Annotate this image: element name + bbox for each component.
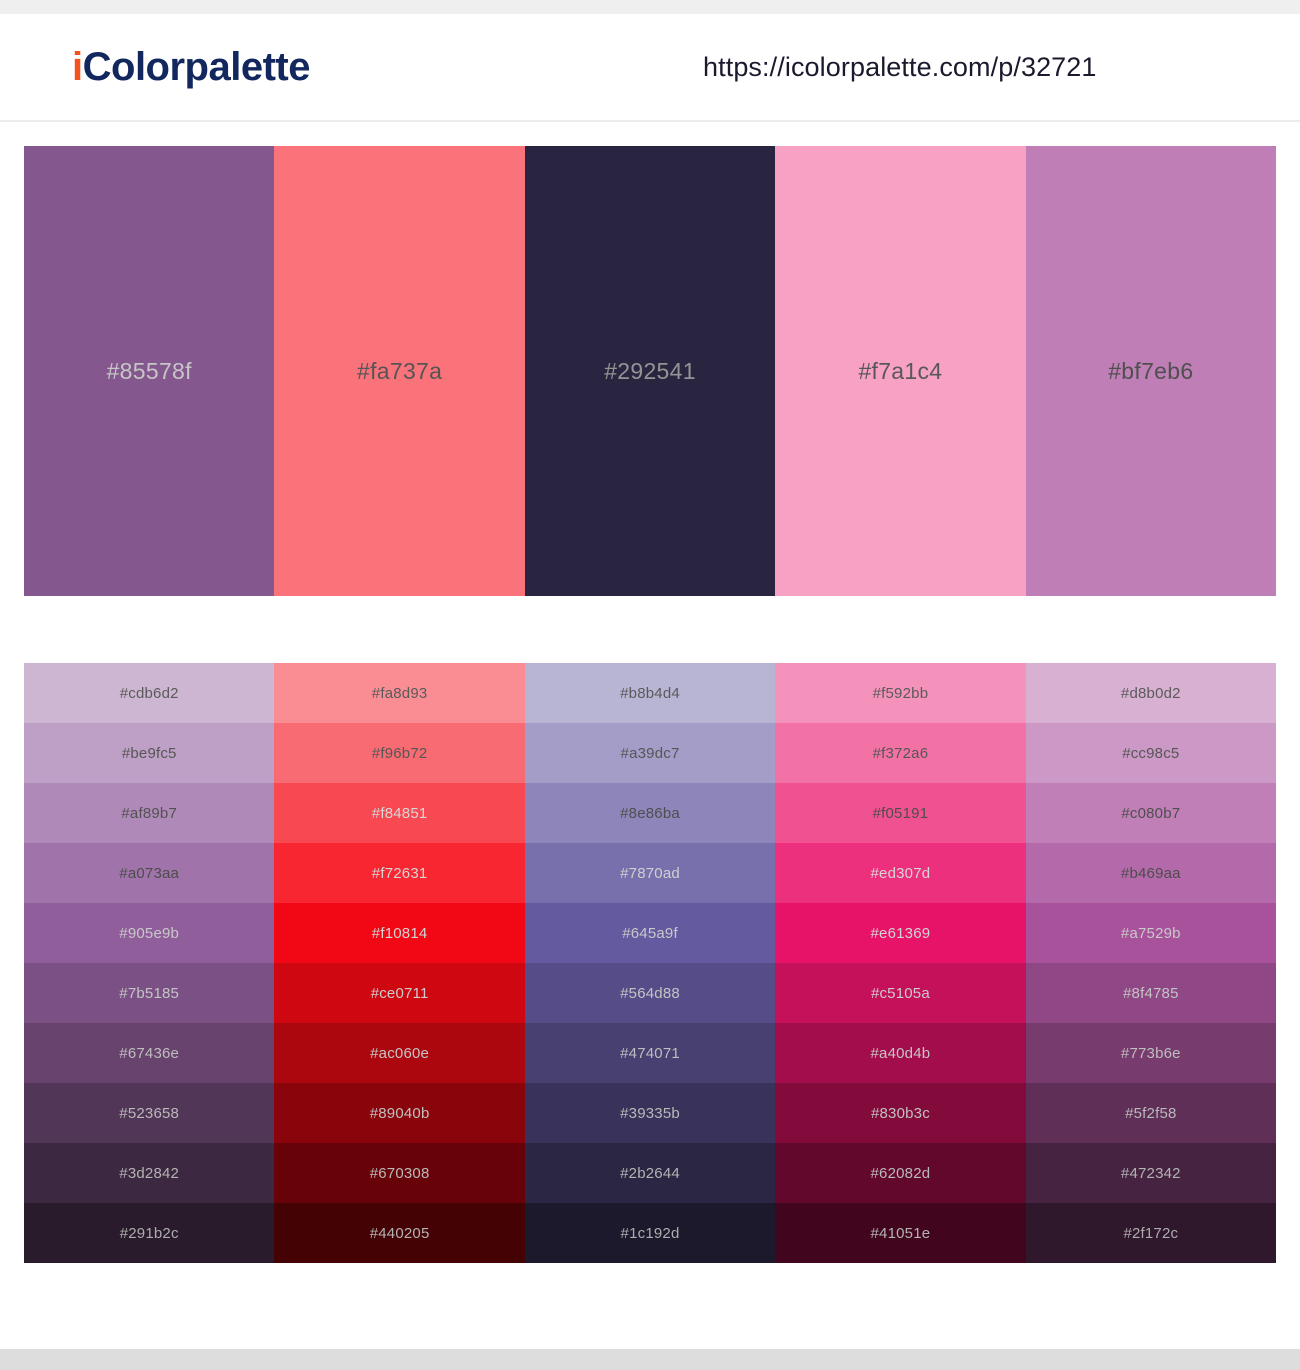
shade-cell[interactable]: #2f172c [1026,1203,1276,1263]
table-row: #a073aa#f72631#7870ad#ed307d#b469aa [24,843,1276,903]
table-row: #523658#89040b#39335b#830b3c#5f2f58 [24,1083,1276,1143]
table-row: #905e9b#f10814#645a9f#e61369#a7529b [24,903,1276,963]
shade-cell[interactable]: #7870ad [525,843,775,903]
palette-swatch[interactable]: #fa737a [274,146,524,596]
shade-cell[interactable]: #b469aa [1026,843,1276,903]
shade-cell-hex-label: #f96b72 [372,745,428,762]
shade-cell[interactable]: #be9fc5 [24,723,274,783]
shade-cell[interactable]: #62082d [775,1143,1025,1203]
shade-cell[interactable]: #e61369 [775,903,1025,963]
shade-cell[interactable]: #ac060e [274,1023,524,1083]
shade-cell-hex-label: #f05191 [873,805,929,822]
shade-cell[interactable]: #3d2842 [24,1143,274,1203]
shade-cell[interactable]: #a40d4b [775,1023,1025,1083]
shade-cell-hex-label: #a39dc7 [621,745,680,762]
table-row: #7b5185#ce0711#564d88#c5105a#8f4785 [24,963,1276,1023]
shade-cell-hex-label: #8e86ba [620,805,680,822]
shade-cell-hex-label: #f372a6 [873,745,929,762]
shade-cell[interactable]: #905e9b [24,903,274,963]
shade-cell[interactable]: #f96b72 [274,723,524,783]
table-row: #291b2c#440205#1c192d#41051e#2f172c [24,1203,1276,1263]
shade-cell-hex-label: #cdb6d2 [120,685,179,702]
shade-cell-hex-label: #b469aa [1121,865,1181,882]
shade-cell-hex-label: #b8b4d4 [620,685,680,702]
shade-cell[interactable]: #291b2c [24,1203,274,1263]
shade-cell[interactable]: #f372a6 [775,723,1025,783]
shade-cell[interactable]: #ed307d [775,843,1025,903]
shade-cell[interactable]: #c080b7 [1026,783,1276,843]
shade-cell[interactable]: #7b5185 [24,963,274,1023]
shade-cell-hex-label: #ac060e [370,1045,429,1062]
table-row: #be9fc5#f96b72#a39dc7#f372a6#cc98c5 [24,723,1276,783]
site-logo[interactable]: iColorpalette [72,47,310,87]
shade-cell[interactable]: #d8b0d2 [1026,663,1276,723]
shade-cell[interactable]: #a7529b [1026,903,1276,963]
shade-cell[interactable]: #1c192d [525,1203,775,1263]
shade-cell[interactable]: #fa8d93 [274,663,524,723]
shade-cell-hex-label: #5f2f58 [1125,1105,1176,1122]
shade-cell-hex-label: #773b6e [1121,1045,1181,1062]
shade-cell[interactable]: #5f2f58 [1026,1083,1276,1143]
shade-cell[interactable]: #c5105a [775,963,1025,1023]
shade-cell[interactable]: #474071 [525,1023,775,1083]
shade-cell-hex-label: #7b5185 [119,985,179,1002]
shade-cell-hex-label: #830b3c [871,1105,930,1122]
site-header: iColorpalette https://icolorpalette.com/… [0,14,1300,122]
shade-cell-hex-label: #ed307d [871,865,931,882]
logo-wordmark: Colorpalette [83,45,310,89]
shade-cell-hex-label: #645a9f [622,925,678,942]
shade-cell-hex-label: #3d2842 [119,1165,179,1182]
shade-cell[interactable]: #645a9f [525,903,775,963]
palette-swatch-hex-label: #85578f [107,358,192,385]
palette-swatch[interactable]: #292541 [525,146,775,596]
shade-cell-hex-label: #905e9b [119,925,179,942]
palette-swatch[interactable]: #f7a1c4 [775,146,1025,596]
shade-cell-hex-label: #c5105a [871,985,930,1002]
palette-swatch-hex-label: #f7a1c4 [858,358,942,385]
shade-cell-hex-label: #ce0711 [371,985,429,1002]
shade-cell[interactable]: #f10814 [274,903,524,963]
shade-cell[interactable]: #773b6e [1026,1023,1276,1083]
shade-cell-hex-label: #472342 [1121,1165,1181,1182]
shade-cell[interactable]: #f592bb [775,663,1025,723]
palette-swatch-hex-label: #bf7eb6 [1108,358,1193,385]
shade-cell[interactable]: #cdb6d2 [24,663,274,723]
shade-cell-hex-label: #2f172c [1123,1225,1178,1242]
shade-cell-hex-label: #a7529b [1121,925,1181,942]
shade-cell-hex-label: #670308 [370,1165,430,1182]
shade-cell-hex-label: #8f4785 [1123,985,1179,1002]
shade-cell-hex-label: #d8b0d2 [1121,685,1181,702]
shade-cell-hex-label: #523658 [119,1105,179,1122]
table-row: #67436e#ac060e#474071#a40d4b#773b6e [24,1023,1276,1083]
bottom-gray-strip [0,1349,1300,1370]
shade-cell-hex-label: #7870ad [620,865,680,882]
shade-cell-hex-label: #2b2644 [620,1165,680,1182]
shade-cell-hex-label: #291b2c [120,1225,179,1242]
palette-swatch-hex-label: #fa737a [357,358,442,385]
palette-swatch[interactable]: #85578f [24,146,274,596]
shade-cell[interactable]: #670308 [274,1143,524,1203]
table-row: #3d2842#670308#2b2644#62082d#472342 [24,1143,1276,1203]
shade-cell-hex-label: #39335b [620,1105,680,1122]
shade-cell-hex-label: #474071 [620,1045,680,1062]
shade-cell-hex-label: #c080b7 [1121,805,1180,822]
shade-cell[interactable]: #a073aa [24,843,274,903]
shade-variation-table: #cdb6d2#fa8d93#b8b4d4#f592bb#d8b0d2#be9f… [24,663,1276,1263]
shade-cell-hex-label: #a073aa [119,865,179,882]
shade-cell[interactable]: #8f4785 [1026,963,1276,1023]
page-root: iColorpalette https://icolorpalette.com/… [0,0,1300,1370]
shade-cell-hex-label: #af89b7 [121,805,177,822]
shade-cell[interactable]: #89040b [274,1083,524,1143]
shade-cell[interactable]: #8e86ba [525,783,775,843]
shade-cell[interactable]: #f84851 [274,783,524,843]
shade-cell-hex-label: #440205 [370,1225,430,1242]
shade-cell[interactable]: #a39dc7 [525,723,775,783]
shade-cell-hex-label: #67436e [119,1045,179,1062]
shade-cell[interactable]: #b8b4d4 [525,663,775,723]
shade-cell[interactable]: #67436e [24,1023,274,1083]
shade-cell[interactable]: #cc98c5 [1026,723,1276,783]
shade-cell[interactable]: #41051e [775,1203,1025,1263]
table-row: #af89b7#f84851#8e86ba#f05191#c080b7 [24,783,1276,843]
shade-cell-hex-label: #f84851 [372,805,428,822]
table-row: #cdb6d2#fa8d93#b8b4d4#f592bb#d8b0d2 [24,663,1276,723]
main-palette-strip: #85578f#fa737a#292541#f7a1c4#bf7eb6 [24,146,1276,596]
palette-url: https://icolorpalette.com/p/32721 [703,52,1097,83]
shade-cell-hex-label: #cc98c5 [1122,745,1179,762]
shade-cell[interactable]: #440205 [274,1203,524,1263]
shade-cell[interactable]: #2b2644 [525,1143,775,1203]
shade-cell-hex-label: #f72631 [372,865,428,882]
logo-accent-letter: i [72,45,83,89]
shade-cell-hex-label: #1c192d [621,1225,680,1242]
shade-cell[interactable]: #830b3c [775,1083,1025,1143]
shade-cell[interactable]: #f72631 [274,843,524,903]
shade-cell-hex-label: #41051e [871,1225,931,1242]
shade-cell[interactable]: #472342 [1026,1143,1276,1203]
shade-cell-hex-label: #fa8d93 [372,685,428,702]
top-gray-strip [0,0,1300,14]
shade-cell-hex-label: #f592bb [873,685,929,702]
shade-cell-hex-label: #f10814 [372,925,428,942]
shade-cell[interactable]: #ce0711 [274,963,524,1023]
shade-cell-hex-label: #89040b [370,1105,430,1122]
shade-cell-hex-label: #be9fc5 [122,745,177,762]
shade-cell-hex-label: #62082d [871,1165,931,1182]
shade-cell-hex-label: #564d88 [620,985,680,1002]
shade-cell[interactable]: #f05191 [775,783,1025,843]
palette-swatch[interactable]: #bf7eb6 [1026,146,1276,596]
shade-cell-hex-label: #a40d4b [871,1045,931,1062]
shade-cell[interactable]: #39335b [525,1083,775,1143]
shade-cell[interactable]: #af89b7 [24,783,274,843]
shade-cell[interactable]: #523658 [24,1083,274,1143]
shade-cell-hex-label: #e61369 [871,925,931,942]
palette-swatch-hex-label: #292541 [604,358,696,385]
shade-cell[interactable]: #564d88 [525,963,775,1023]
